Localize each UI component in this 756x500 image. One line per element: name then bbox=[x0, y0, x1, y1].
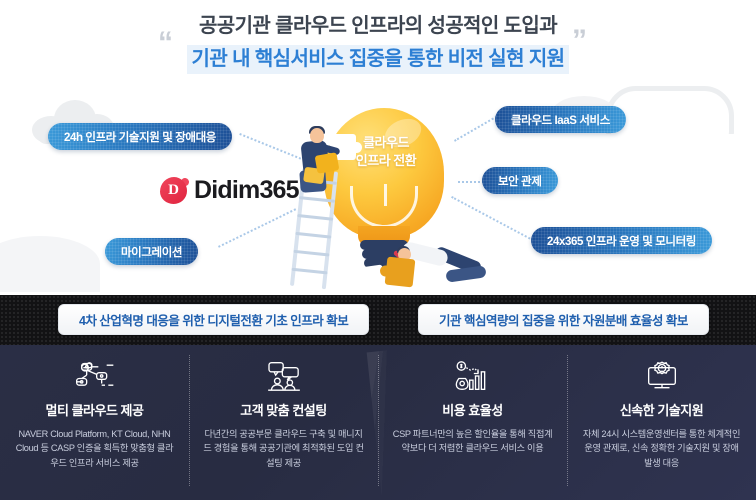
feature-column-multi-cloud: 멀티 클라우드 제공 NAVER Cloud Platform, KT Clou… bbox=[0, 345, 189, 500]
strip-pill-resource-efficiency[interactable]: 기관 핵심역량의 집중을 위한 자원분배 효율성 확보 bbox=[418, 304, 709, 335]
features-section: 멀티 클라우드 제공 NAVER Cloud Platform, KT Clou… bbox=[0, 345, 756, 500]
hero-title-line2: 기관 내 핵심서비스 집중을 통한 비전 실현 지원 bbox=[187, 45, 570, 74]
hero-title-line1: 공공기관 클라우드 인프라의 성공적인 도입과 bbox=[0, 12, 756, 41]
cost-chart-icon bbox=[452, 359, 494, 393]
infographic-page: “ ” 공공기관 클라우드 인프라의 성공적인 도입과 기관 내 핵심서비스 집… bbox=[0, 0, 756, 500]
didim365-logo-mark-icon: D bbox=[160, 177, 187, 204]
monitor-gear-icon bbox=[641, 359, 683, 393]
feature-column-consulting: 고객 맞춤 컨설팅 다년간의 공공부문 클라우드 구축 및 매니지드 경험을 통… bbox=[189, 345, 378, 500]
hero-section: “ ” 공공기관 클라우드 인프라의 성공적인 도입과 기관 내 핵심서비스 집… bbox=[0, 0, 756, 295]
didim365-logo: D Didim365 bbox=[160, 176, 299, 205]
quote-open-icon: “ bbox=[158, 28, 173, 58]
cloud-decoration-bottom-left bbox=[0, 236, 100, 292]
pill-migration[interactable]: 마이그레이션 bbox=[105, 238, 198, 265]
feature-column-cost: 비용 효율성 CSP 파트너만의 높은 할인율을 통해 직접계약보다 더 저렴한… bbox=[378, 345, 567, 500]
feature-description: 다년간의 공공부문 클라우드 구축 및 매니지드 경험을 통해 공공기관에 최적… bbox=[203, 427, 364, 470]
pill-infra-monitoring[interactable]: 24x365 인프라 운영 및 모니터링 bbox=[531, 227, 712, 254]
quote-close-icon: ” bbox=[572, 26, 587, 56]
lightbulb-illustration: 클라우드 인프라 전환 bbox=[286, 108, 491, 290]
feature-description: CSP 파트너만의 높은 할인율을 통해 직접계약보다 더 저렴한 클라우드 서… bbox=[392, 427, 553, 456]
puzzle-piece-yellow-bottom bbox=[385, 257, 416, 288]
pill-cloud-iaas[interactable]: 클라우드 IaaS 서비스 bbox=[495, 106, 626, 133]
worker-pushing-puzzle-illustration bbox=[402, 244, 488, 292]
feature-title: 고객 맞춤 컨설팅 bbox=[240, 400, 326, 419]
strip-pill-digital-infra[interactable]: 4차 산업혁명 대응을 위한 디지털전환 기초 인프라 확보 bbox=[58, 304, 369, 335]
cloud-network-icon bbox=[74, 359, 116, 393]
lightbulb-label: 클라우드 인프라 전환 bbox=[338, 134, 434, 169]
features-grid: 멀티 클라우드 제공 NAVER Cloud Platform, KT Clou… bbox=[0, 345, 756, 500]
pill-security-mgmt[interactable]: 보안 관제 bbox=[482, 167, 558, 194]
logo-mark-letter: D bbox=[160, 177, 187, 204]
feature-title: 비용 효율성 bbox=[442, 400, 502, 419]
connector-line-migration bbox=[218, 208, 296, 247]
hero-title-block: “ ” 공공기관 클라우드 인프라의 성공적인 도입과 기관 내 핵심서비스 집… bbox=[0, 12, 756, 74]
feature-column-support: 신속한 기술지원 자체 24시 시스템운영센터를 통한 체계적인 운영 관제로,… bbox=[567, 345, 756, 500]
consulting-people-icon bbox=[263, 359, 305, 393]
banner-strip: 4차 산업혁명 대응을 위한 디지털전환 기초 인프라 확보 기관 핵심역량의 … bbox=[0, 295, 756, 345]
feature-title: 멀티 클라우드 제공 bbox=[46, 400, 144, 419]
feature-title: 신속한 기술지원 bbox=[620, 400, 703, 419]
feature-description: NAVER Cloud Platform, KT Cloud, NHN Clou… bbox=[14, 427, 175, 470]
lightbulb-label-line1: 클라우드 bbox=[338, 134, 434, 152]
didim365-logo-text: Didim365 bbox=[194, 176, 299, 205]
lightbulb-label-line2: 인프라 전환 bbox=[338, 152, 434, 170]
pill-infra-support[interactable]: 24h 인프라 기술지원 및 장애대응 bbox=[48, 123, 232, 150]
worker-on-ladder-illustration bbox=[292, 128, 342, 192]
feature-description: 자체 24시 시스템운영센터를 통한 체계적인 운영 관제로, 신속 정확한 기… bbox=[581, 427, 742, 470]
